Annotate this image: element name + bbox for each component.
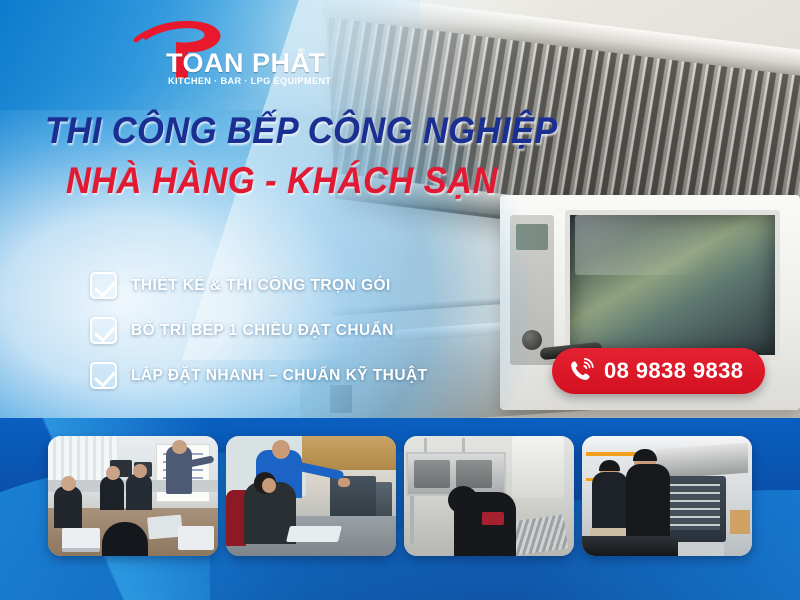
checkbox-checked-icon	[90, 272, 117, 299]
photo-technician-installing-sink[interactable]	[404, 436, 574, 556]
brand-tagline: KITCHEN · BAR · LPG EQUIPMENT	[168, 76, 331, 86]
feature-list: THIẾT KẾ & THI CÔNG TRỌN GÓI BỐ TRÍ BẾP …	[90, 272, 428, 389]
phone-number: 08 9838 9838	[604, 358, 743, 384]
photo-strip	[0, 436, 800, 556]
brand-logo[interactable]: TOAN PHAT ® KITCHEN · BAR · LPG EQUIPMEN…	[132, 20, 312, 82]
checkbox-checked-icon	[90, 317, 117, 344]
headline-block: THI CÔNG BẾP CÔNG NGHIỆP NHÀ HÀNG - KHÁC…	[0, 112, 500, 201]
phone-cta-button[interactable]: 08 9838 9838	[552, 348, 765, 394]
registered-mark: ®	[298, 46, 305, 56]
checkbox-checked-icon	[90, 362, 117, 389]
feature-label: THIẾT KẾ & THI CÔNG TRỌN GÓI	[131, 277, 391, 295]
phone-ringing-icon	[568, 358, 594, 384]
photo-staff-with-kitchen-equipment[interactable]	[582, 436, 752, 556]
feature-item: THIẾT KẾ & THI CÔNG TRỌN GÓI	[90, 272, 428, 299]
feature-item: BỐ TRÍ BẾP 1 CHIỀU ĐẠT CHUẨN	[90, 317, 428, 344]
promotional-banner: TOAN PHAT ® KITCHEN · BAR · LPG EQUIPMEN…	[0, 0, 800, 600]
feature-label: BỐ TRÍ BẾP 1 CHIỀU ĐẠT CHUẨN	[131, 322, 394, 340]
headline-line-1: THI CÔNG BẾP CÔNG NGHIỆP	[45, 112, 468, 150]
headline-line-2: NHÀ HÀNG - KHÁCH SẠN	[66, 162, 470, 200]
photo-office-staff-at-computer[interactable]	[226, 436, 396, 556]
feature-label: LẮP ĐẶT NHANH – CHUẨN KỸ THUẬT	[131, 367, 428, 385]
feature-item: LẮP ĐẶT NHANH – CHUẨN KỸ THUẬT	[90, 362, 428, 389]
photo-team-meeting-room[interactable]	[48, 436, 218, 556]
